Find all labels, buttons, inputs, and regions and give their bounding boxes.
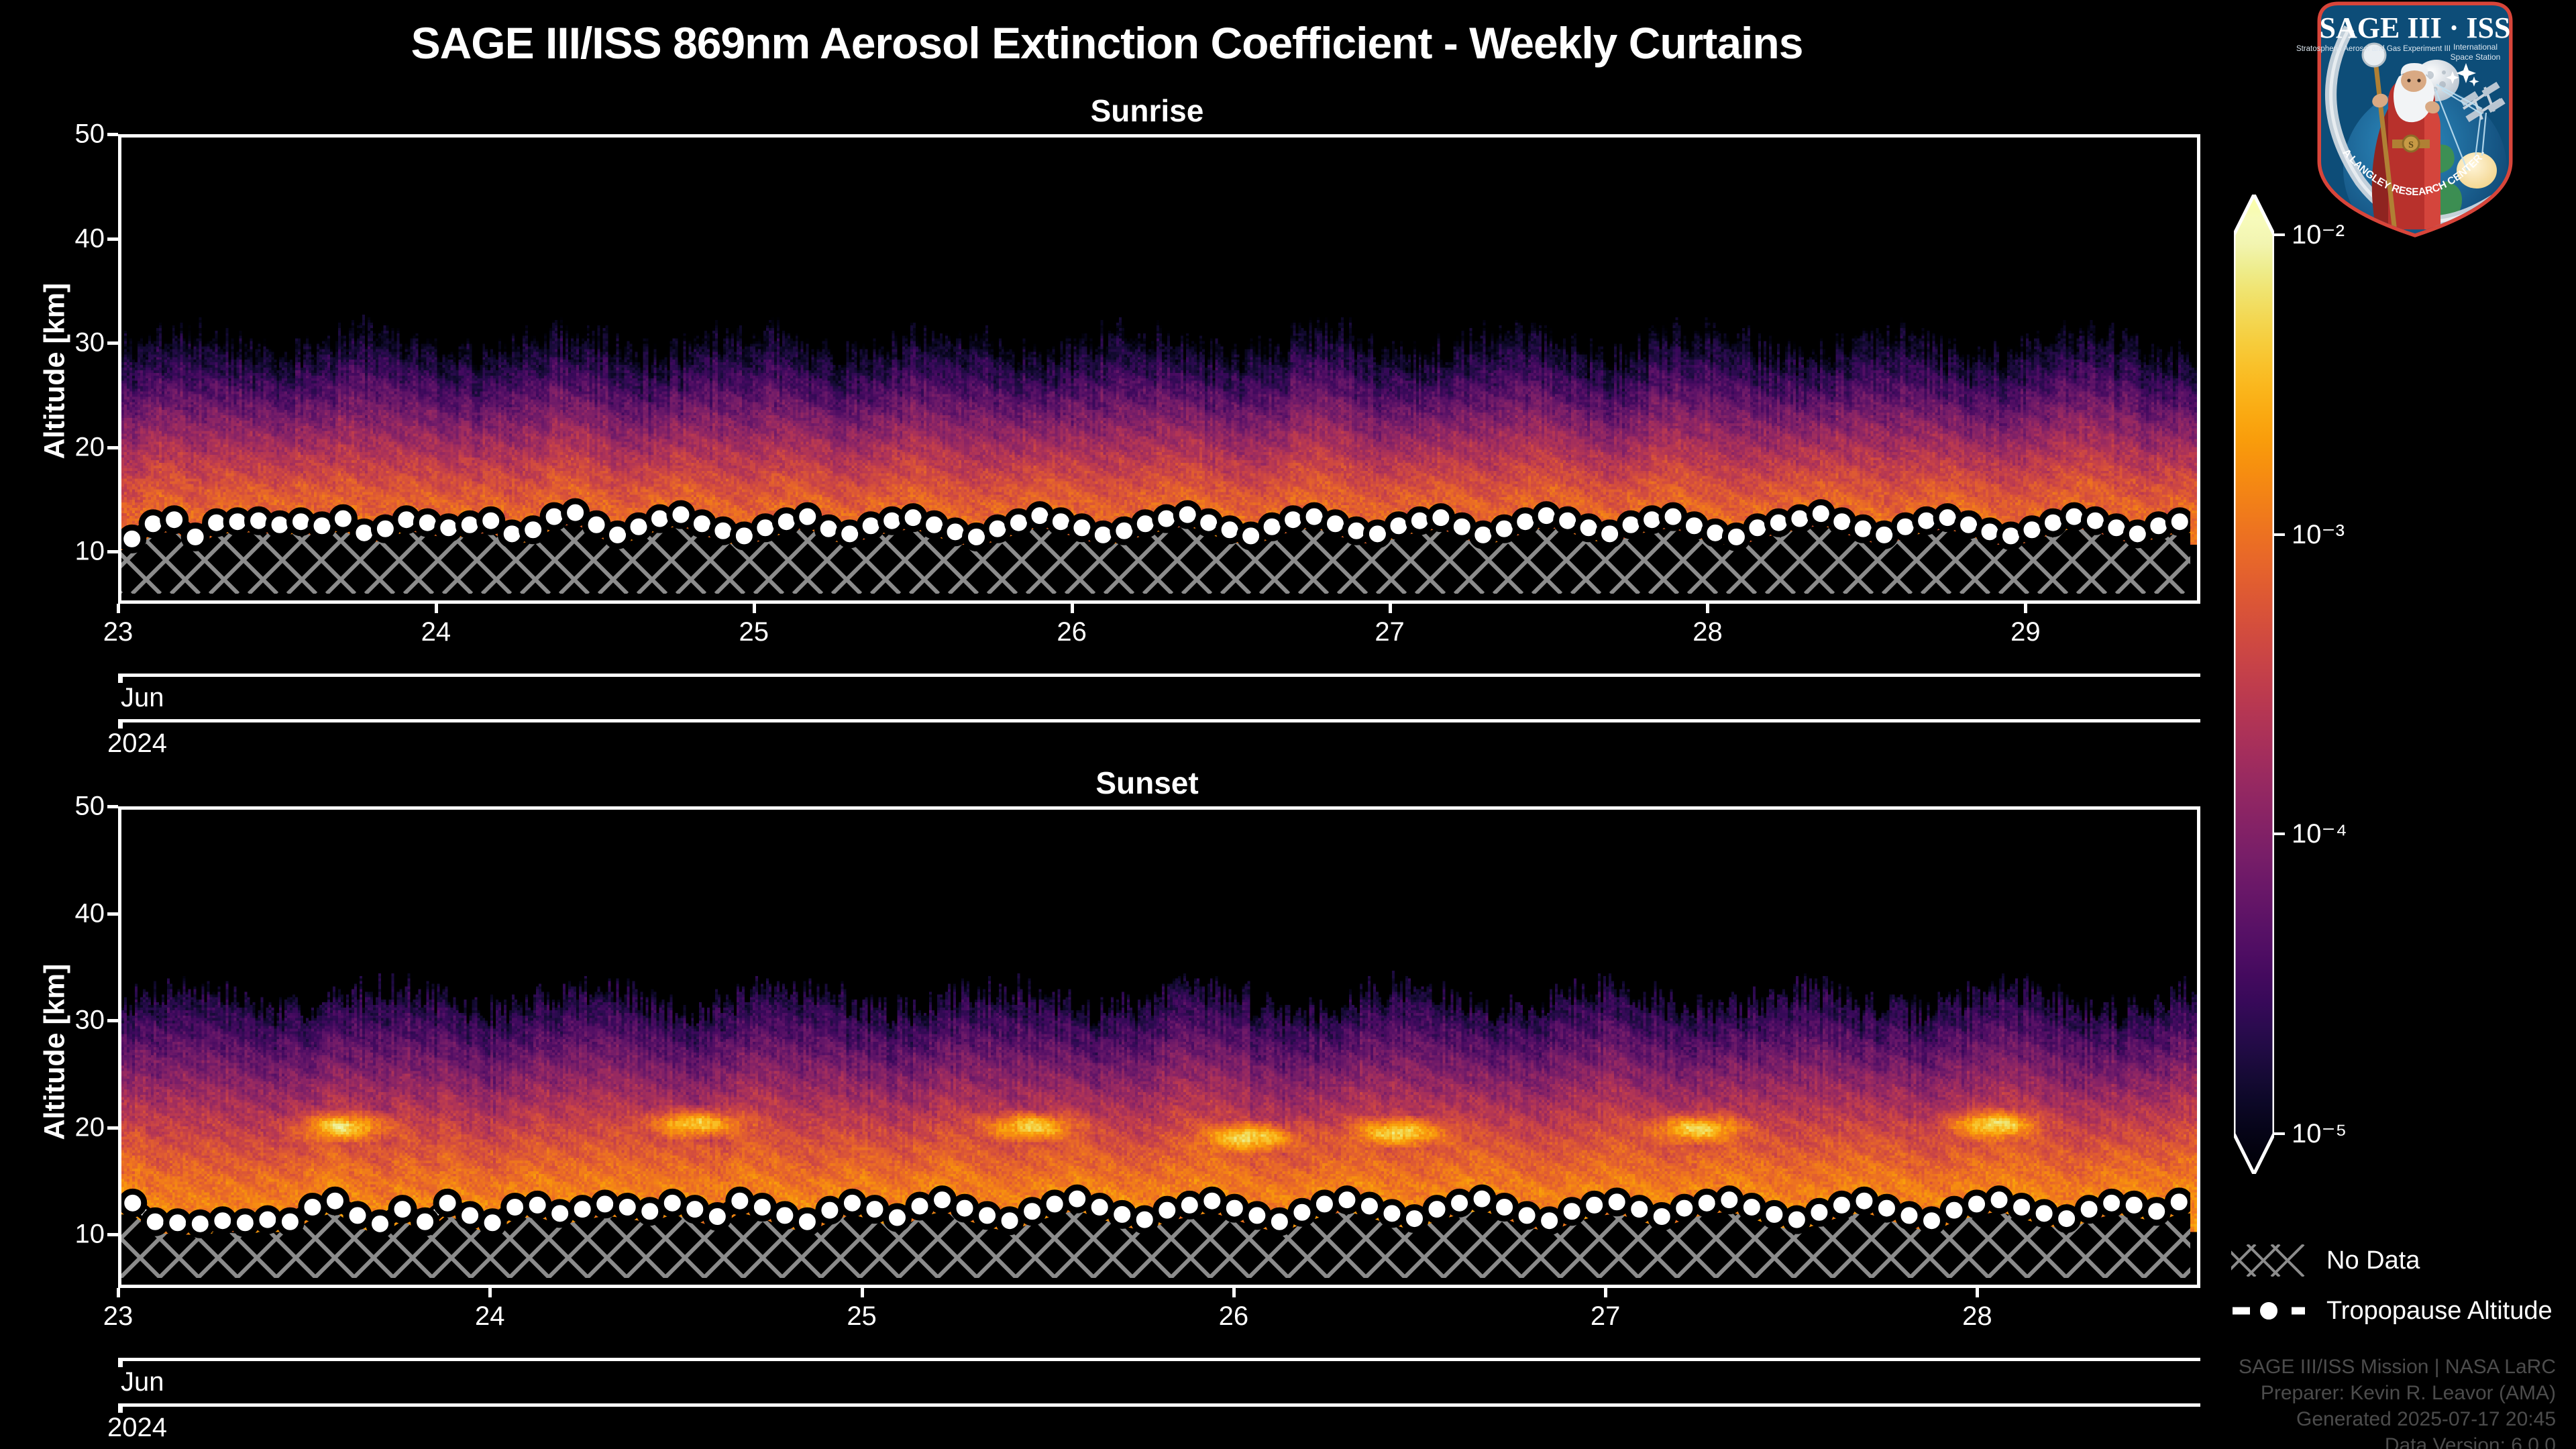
- tropopause-marker: [184, 525, 207, 548]
- y-tick-label: 30: [31, 1006, 105, 1036]
- legend-item-tropopause[interactable]: Tropopause Altitude: [2231, 1295, 2553, 1327]
- x-tick-mark: [117, 604, 120, 613]
- footer-line-dataversion: Data Version: 6.0.0: [2239, 1432, 2556, 1449]
- x-tick-mark: [753, 604, 756, 613]
- y-tick-label: 10: [31, 1220, 105, 1250]
- colorbar-tick-label: 10⁻²: [2292, 219, 2345, 250]
- tropopause-marker: [1178, 1193, 1201, 1216]
- tropopause-marker-swatch: [2231, 1295, 2306, 1327]
- tropopause-marker: [2123, 1193, 2145, 1216]
- y-tick-label: 30: [31, 328, 105, 358]
- y-tick-label: 50: [31, 119, 105, 150]
- colorbar-tick-label: 10⁻³: [2292, 519, 2345, 550]
- tropopause-marker: [1246, 1204, 1269, 1227]
- svg-text:S: S: [2408, 140, 2414, 150]
- tropopause-marker: [863, 1198, 886, 1221]
- tropopause-marker: [1966, 1193, 1988, 1216]
- tropopause-marker: [1943, 1199, 1966, 1222]
- tropopause-marker: [1538, 1210, 1561, 1232]
- y-tick-mark: [107, 237, 118, 241]
- tropopause-marker: [189, 1212, 211, 1235]
- legend-item-no-data[interactable]: No Data: [2231, 1244, 2420, 1277]
- x-tick-label-day: 25: [739, 617, 769, 647]
- x-axis-month-bar: [118, 674, 2200, 677]
- tropopause-marker: [2145, 1200, 2168, 1223]
- tropopause-marker: [1381, 1202, 1403, 1225]
- tropopause-marker: [976, 1204, 999, 1227]
- heatmap-panel-sunrise[interactable]: [118, 134, 2200, 604]
- colorbar[interactable]: [2234, 195, 2274, 1174]
- logo-title: SAGE III · ISS: [2320, 11, 2511, 44]
- tropopause-marker: [931, 1189, 954, 1212]
- tropopause-marker: [684, 1198, 706, 1221]
- tropopause-marker: [2033, 1202, 2055, 1225]
- tropopause-marker: [1785, 1208, 1808, 1231]
- tropopause-and-nodata-overlay: [121, 138, 2190, 594]
- tropopause-marker: [1808, 1201, 1831, 1224]
- x-axis-month-tick: [118, 1358, 123, 1367]
- tropopause-marker: [1448, 1191, 1471, 1214]
- y-tick-label: 40: [31, 898, 105, 928]
- x-tick-label-day: 27: [1591, 1301, 1621, 1332]
- y-tick-mark: [107, 1019, 118, 1022]
- tropopause-marker: [886, 1206, 909, 1229]
- y-tick-mark: [107, 133, 118, 136]
- tropopause-marker: [323, 1189, 346, 1212]
- tropopause-marker: [1650, 1205, 1673, 1228]
- y-tick-mark: [107, 912, 118, 916]
- tropopause-marker: [1605, 1191, 1628, 1214]
- tropopause-marker: [639, 1200, 661, 1223]
- y-tick-label: 40: [31, 223, 105, 254]
- colorbar-tick-label: 10⁻⁵: [2292, 1118, 2347, 1149]
- tropopause-marker: [256, 1208, 279, 1231]
- tropopause-marker: [2100, 1191, 2123, 1214]
- tropopause-marker: [1201, 1189, 1224, 1212]
- tropopause-marker: [1336, 1189, 1358, 1212]
- tropopause-marker: [1268, 1210, 1291, 1233]
- footer-line-preparer: Preparer: Kevin R. Leavor (AMA): [2239, 1380, 2556, 1406]
- x-tick-label-day: 24: [475, 1301, 505, 1332]
- tropopause-marker: [1088, 1196, 1111, 1219]
- tropopause-marker: [998, 1210, 1021, 1232]
- x-tick-mark: [1232, 1288, 1236, 1297]
- x-tick-mark: [1976, 1288, 1979, 1297]
- panel-title-sunset: Sunset: [94, 765, 2200, 801]
- tropopause-marker: [2078, 1198, 2100, 1221]
- x-axis-month-tick: [118, 674, 123, 683]
- legend-label-tropopause: Tropopause Altitude: [2326, 1297, 2553, 1326]
- logo-subtitle-left: Stratospheric Aerosol and Gas Experiment…: [2296, 45, 2451, 53]
- tropopause-marker: [661, 1191, 684, 1214]
- x-tick-mark: [1071, 604, 1074, 613]
- logo-svg: S SAGE III · ISS Stratospheric Aerosol a…: [2281, 1, 2549, 237]
- tropopause-marker: [1021, 1200, 1044, 1223]
- tropopause-marker: [331, 507, 354, 530]
- footer-line-generated: Generated 2025-07-17 20:45: [2239, 1406, 2556, 1432]
- x-tick-mark: [1604, 1288, 1607, 1297]
- tropopause-marker: [1358, 1195, 1381, 1218]
- tropopause-marker: [1470, 1187, 1493, 1210]
- y-tick-mark: [107, 805, 118, 808]
- colorbar-tick-mark: [2274, 233, 2285, 236]
- y-tick-mark: [107, 1233, 118, 1236]
- tropopause-marker: [1133, 1208, 1156, 1231]
- colorbar-gradient: [2234, 195, 2274, 1174]
- tropopause-marker: [594, 1193, 616, 1216]
- tropopause-marker: [1988, 1189, 2010, 1212]
- tropopause-marker: [121, 1191, 144, 1214]
- logo-subtitle-right-2: Space Station: [2451, 52, 2501, 62]
- tropopause-marker: [166, 1212, 189, 1234]
- tropopause-marker: [1291, 1201, 1313, 1224]
- colorbar-tick-label: 10⁻⁴: [2292, 818, 2347, 849]
- x-tick-mark: [1389, 604, 1392, 613]
- hatch-cross-swatch: [2231, 1244, 2306, 1277]
- tropopause-marker: [1403, 1207, 1426, 1230]
- tropopause-marker: [1875, 1197, 1898, 1220]
- tropopause-marker: [841, 1191, 863, 1214]
- tropopause-marker: [163, 508, 186, 531]
- tropopause-marker: [1426, 1198, 1448, 1221]
- tropopause-and-nodata-overlay: [121, 810, 2190, 1278]
- x-tick-label-day: 23: [103, 617, 133, 647]
- x-tick-label-day: 28: [1693, 617, 1723, 647]
- tropopause-marker: [526, 1193, 549, 1216]
- y-tick-mark: [107, 550, 118, 553]
- x-tick-mark: [1706, 604, 1709, 613]
- tropopause-marker: [1718, 1189, 1741, 1212]
- tropopause-marker: [818, 1199, 841, 1222]
- tropopause-marker: [2168, 511, 2190, 533]
- x-tick-label-day: 24: [421, 617, 451, 647]
- tropopause-marker: [729, 1189, 751, 1212]
- tropopause-marker: [1223, 1197, 1246, 1220]
- tropopause-marker: [1853, 1189, 1876, 1212]
- tropopause-marker: [144, 1210, 166, 1233]
- tropopause-marker: [1493, 1196, 1516, 1219]
- x-tick-mark: [861, 1288, 864, 1297]
- legend-label-no-data: No Data: [2326, 1246, 2420, 1275]
- y-tick-mark: [107, 1126, 118, 1130]
- tropopause-marker: [571, 1198, 594, 1221]
- x-tick-label-day: 28: [1962, 1301, 1992, 1332]
- x-tick-label-day: 27: [1375, 617, 1405, 647]
- tropopause-marker: [369, 1212, 392, 1235]
- x-tick-label-day: 25: [847, 1301, 877, 1332]
- x-tick-label-day: 26: [1057, 617, 1087, 647]
- footer-credits: SAGE III/ISS Mission | NASA LaRC Prepare…: [2239, 1354, 2556, 1449]
- tropopause-marker: [796, 1210, 818, 1233]
- tropopause-marker: [1043, 1193, 1066, 1216]
- x-axis-year-tick: [118, 1403, 123, 1413]
- x-axis-year-label: 2024: [107, 729, 167, 759]
- y-tick-mark: [107, 446, 118, 449]
- tropopause-marker: [1921, 1210, 1943, 1232]
- tropopause-marker: [1156, 1199, 1179, 1222]
- footer-line-mission: SAGE III/ISS Mission | NASA LaRC: [2239, 1354, 2556, 1380]
- tropopause-marker: [414, 1210, 437, 1233]
- sage-iii-iss-mission-patch-logo: S SAGE III · ISS Stratospheric Aerosol a…: [2281, 1, 2549, 237]
- tropopause-marker: [616, 1196, 639, 1219]
- tropopause-marker: [504, 1196, 527, 1219]
- tropopause-marker: [1583, 1193, 1606, 1216]
- tropopause-marker: [1560, 1200, 1583, 1223]
- tropopause-marker: [459, 1204, 482, 1227]
- y-tick-mark: [107, 341, 118, 345]
- tropopause-marker: [2010, 1196, 2033, 1219]
- tropopause-marker: [278, 1210, 301, 1233]
- tropopause-marker: [1628, 1198, 1651, 1221]
- tropopause-marker: [211, 1210, 234, 1232]
- tropopause-marker: [549, 1202, 572, 1225]
- x-axis-year-tick: [118, 719, 123, 729]
- y-tick-label: 50: [31, 792, 105, 822]
- y-tick-label: 20: [31, 432, 105, 462]
- y-tick-label: 20: [31, 1112, 105, 1142]
- x-axis-year-bar: [118, 719, 2200, 722]
- tropopause-marker: [2167, 1191, 2190, 1214]
- tropopause-marker: [773, 1204, 796, 1227]
- x-tick-label-day: 23: [103, 1301, 133, 1332]
- colorbar-tick-mark: [2274, 533, 2285, 536]
- x-tick-mark: [435, 604, 438, 613]
- tropopause-marker: [706, 1205, 729, 1228]
- x-axis-year-label: 2024: [107, 1413, 167, 1443]
- panel-title-sunrise: Sunrise: [94, 93, 2200, 129]
- tropopause-marker: [121, 527, 144, 550]
- tropopause-marker: [1898, 1204, 1921, 1227]
- x-axis-year-bar: [118, 1403, 2200, 1407]
- tropopause-marker: [751, 1196, 773, 1219]
- tropopause-marker: [1515, 1204, 1538, 1227]
- colorbar-tick-mark: [2274, 1132, 2285, 1135]
- logo-subtitle-right-1: International: [2453, 42, 2498, 52]
- y-tick-label: 10: [31, 537, 105, 567]
- tropopause-marker: [1763, 1203, 1786, 1226]
- tropopause-marker: [391, 1198, 414, 1221]
- x-tick-mark: [2024, 604, 2027, 613]
- figure-title: SAGE III/ISS 869nm Aerosol Extinction Co…: [0, 17, 2214, 68]
- x-axis-month-bar: [118, 1358, 2200, 1361]
- tropopause-marker: [1740, 1196, 1763, 1219]
- x-tick-label-day: 29: [2010, 617, 2041, 647]
- tropopause-marker: [233, 1212, 256, 1234]
- tropopause-marker: [1695, 1191, 1718, 1214]
- x-axis-month-label: Jun: [121, 1367, 164, 1397]
- x-tick-mark: [488, 1288, 492, 1297]
- tropopause-marker: [436, 1191, 459, 1214]
- tropopause-marker: [1830, 1193, 1853, 1216]
- colorbar-tick-mark: [2274, 833, 2285, 835]
- tropopause-marker: [1673, 1197, 1696, 1220]
- tropopause-marker: [1066, 1187, 1089, 1210]
- tropopause-marker: [481, 1212, 504, 1234]
- tropopause-marker: [301, 1196, 324, 1219]
- heatmap-panel-sunset[interactable]: [118, 806, 2200, 1288]
- tropopause-marker: [1111, 1203, 1134, 1226]
- x-axis-month-label: Jun: [121, 683, 164, 713]
- tropopause-marker: [953, 1197, 976, 1220]
- x-tick-label-day: 26: [1219, 1301, 1249, 1332]
- tropopause-marker: [346, 1204, 369, 1227]
- x-tick-mark: [117, 1288, 120, 1297]
- tropopause-marker: [908, 1195, 931, 1218]
- tropopause-marker: [2055, 1207, 2078, 1230]
- tropopause-marker: [1313, 1193, 1336, 1216]
